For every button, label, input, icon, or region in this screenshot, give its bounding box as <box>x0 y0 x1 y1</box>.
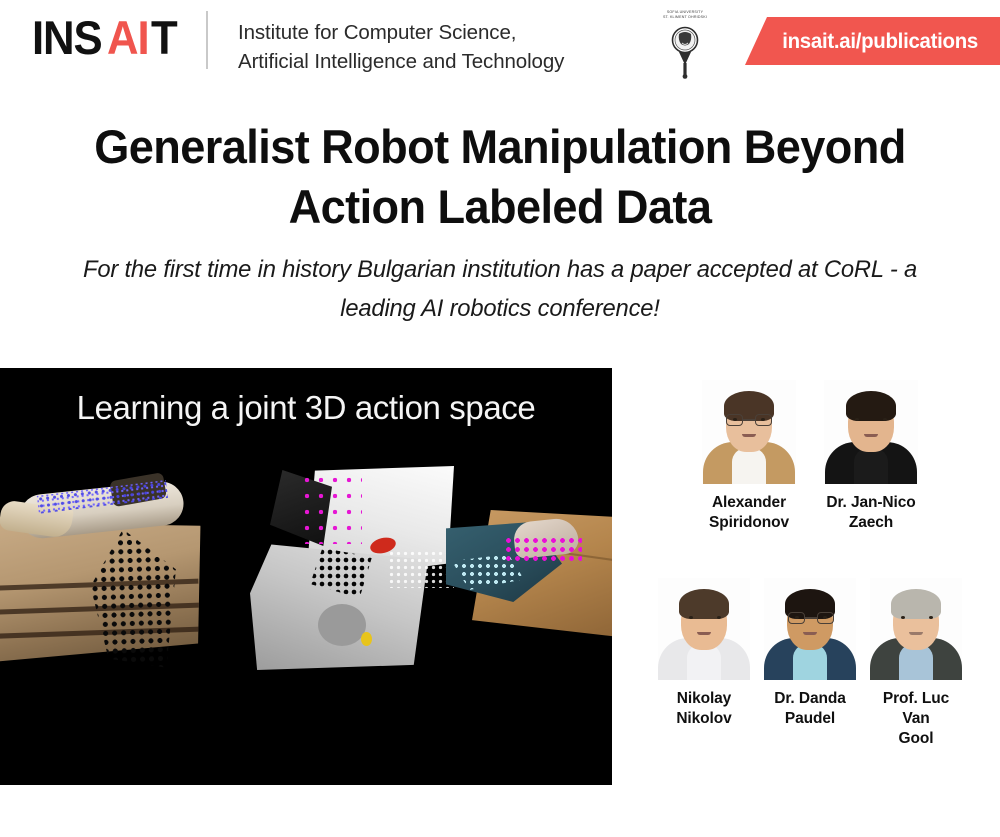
author-name-line-1: Dr. Danda <box>774 689 845 709</box>
author-name-line-1: Prof. Luc Van <box>869 689 963 729</box>
avatar <box>702 380 796 484</box>
sofia-university-emblem-icon <box>645 21 725 79</box>
avatar <box>870 578 962 680</box>
widowx-plate <box>318 604 366 646</box>
institute-tagline-line-2: Artificial Intelligence and Technology <box>238 47 564 76</box>
logo-divider <box>206 11 208 69</box>
avatar <box>824 380 918 484</box>
author-name-line-1: Alexander <box>709 493 789 513</box>
widowx-white-speckle-cloud <box>388 550 454 588</box>
publications-banner-label: insait.ai/publications <box>751 17 993 65</box>
institute-tagline: Institute for Computer Science, Artifici… <box>238 18 564 76</box>
figure-caption: Learning a joint 3D action space <box>0 389 612 427</box>
scene-hand <box>446 508 612 660</box>
author-name-line-2: Spiridonov <box>709 513 789 533</box>
insait-logo[interactable]: INS AI T <box>32 14 179 61</box>
author-name: Dr. Jan-Nico Zaech <box>826 493 915 533</box>
author-card[interactable]: Prof. Luc Van Gool <box>869 578 963 749</box>
author-name-line-2: Gool <box>869 729 963 749</box>
author-name-line-2: Zaech <box>826 513 915 533</box>
authors-grid: Alexander Spiridonov Dr. Jan-Nico Zaech <box>620 370 1000 785</box>
author-name: Dr. Danda Paudel <box>774 689 845 729</box>
author-name-line-2: Paudel <box>774 709 845 729</box>
logo-text-t: T <box>151 14 177 61</box>
author-name: Nikolay Nikolov <box>676 689 731 729</box>
author-name-line-1: Nikolay <box>676 689 731 709</box>
scene-rt1-robot <box>0 468 219 676</box>
author-card[interactable]: Nikolay Nikolov <box>657 578 751 749</box>
authors-row-1: Alexander Spiridonov Dr. Jan-Nico Zaech <box>620 380 1000 533</box>
logo-text-ai: AI <box>107 14 148 61</box>
page-subtitle: For the first time in history Bulgarian … <box>54 250 946 328</box>
publications-banner[interactable]: insait.ai/publications <box>745 17 1000 65</box>
page-title: Generalist Robot Manipulation Beyond Act… <box>68 117 932 237</box>
author-name-line-1: Dr. Jan-Nico <box>826 493 915 513</box>
page-header: INS AI T Institute for Computer Science,… <box>0 0 1000 88</box>
author-card[interactable]: Alexander Spiridonov <box>700 380 798 533</box>
author-card[interactable]: Dr. Jan-Nico Zaech <box>822 380 920 533</box>
author-name: Prof. Luc Van Gool <box>869 689 963 749</box>
authors-row-2: Nikolay Nikolov Dr. Danda Paudel <box>620 578 1000 749</box>
figure-panel: Learning a joint 3D action space <box>0 368 612 785</box>
widowx-yellow-object <box>361 632 372 646</box>
sofia-university-caption-line-2: ST. KLIMENT OHRIDSKI <box>645 15 725 20</box>
logo-text-ins: INS <box>32 14 102 61</box>
author-card[interactable]: Dr. Danda Paudel <box>763 578 857 749</box>
scene-widowx-robot <box>248 464 458 680</box>
institute-tagline-line-1: Institute for Computer Science, <box>238 18 564 47</box>
author-name: Alexander Spiridonov <box>709 493 789 533</box>
author-name-line-2: Nikolov <box>676 709 731 729</box>
avatar <box>764 578 856 680</box>
hand-magenta-point-cloud <box>504 536 582 564</box>
sofia-university-caption: SOFIA UNIVERSITY ST. KLIMENT OHRIDSKI <box>645 10 725 20</box>
avatar <box>658 578 750 680</box>
sofia-university-logo: SOFIA UNIVERSITY ST. KLIMENT OHRIDSKI <box>645 10 725 78</box>
widowx-magenta-point-cloud <box>300 472 362 544</box>
